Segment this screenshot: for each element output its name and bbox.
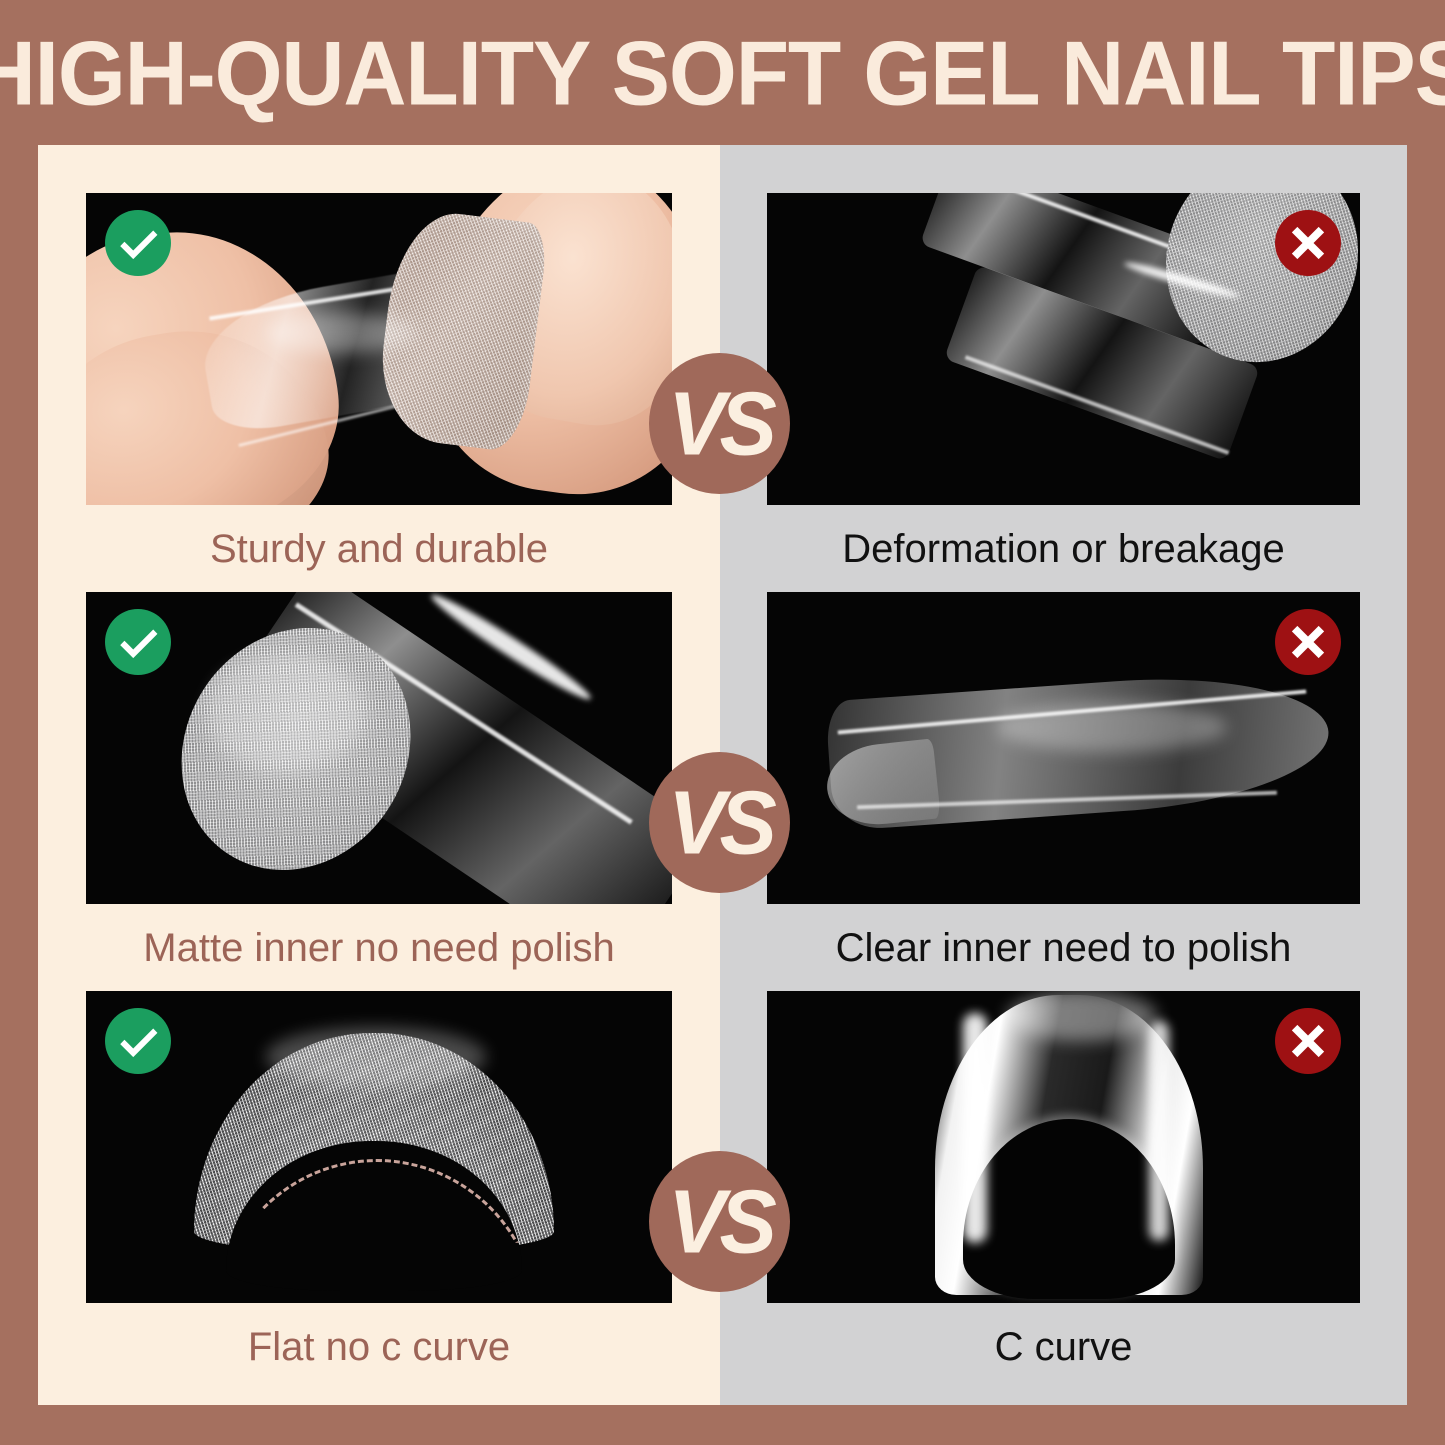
bad-cell-1: Deformation or breakage (720, 193, 1407, 571)
bad-cell-2: Clear inner need to polish (720, 592, 1407, 970)
bad-photo-3 (767, 991, 1360, 1303)
vs-label: VS (668, 1176, 771, 1266)
photo-art (767, 592, 1360, 904)
bad-photo-2 (767, 592, 1360, 904)
gloss-glow (1007, 991, 1157, 1041)
gloss-glow (206, 652, 366, 772)
good-caption-1: Sturdy and durable (38, 527, 720, 571)
good-column: Sturdy and durable Matte inner (38, 145, 720, 1405)
gloss-highlight (1149, 1021, 1169, 1241)
photo-art (86, 991, 672, 1303)
good-cell-1: Sturdy and durable (38, 193, 720, 571)
good-photo-3 (86, 991, 672, 1303)
vs-badge-row-1: VS (649, 353, 790, 494)
vs-label: VS (668, 378, 771, 468)
photo-art (86, 592, 672, 904)
bad-column: Deformation or breakage Clear (720, 145, 1407, 1405)
good-cell-3: Flat no c curve (38, 991, 720, 1369)
bad-caption-1: Deformation or breakage (720, 527, 1407, 571)
vs-label: VS (668, 777, 771, 867)
photo-art (767, 193, 1360, 505)
gloss-highlight (963, 1013, 987, 1243)
page-title: HIGH-QUALITY SOFT GEL NAIL TIPS (0, 27, 1445, 117)
cross-icon (1275, 1008, 1341, 1074)
bad-caption-2: Clear inner need to polish (720, 926, 1407, 970)
bad-caption-3: C curve (720, 1325, 1407, 1369)
comparison-board: Sturdy and durable Matte inner (38, 145, 1407, 1405)
vs-badge-row-2: VS (649, 752, 790, 893)
vs-badge-row-3: VS (649, 1151, 790, 1292)
good-caption-3: Flat no c curve (38, 1325, 720, 1369)
check-icon (105, 1008, 171, 1074)
photo-art (86, 193, 672, 505)
cross-icon (1275, 609, 1341, 675)
photo-art (767, 991, 1360, 1303)
poster-root: HIGH-QUALITY SOFT GEL NAIL TIPS (0, 0, 1445, 1445)
cross-icon (1275, 210, 1341, 276)
good-caption-2: Matte inner no need polish (38, 926, 720, 970)
check-icon (105, 210, 171, 276)
gloss-glow (266, 313, 416, 353)
good-cell-2: Matte inner no need polish (38, 592, 720, 970)
check-icon (105, 609, 171, 675)
bad-cell-3: C curve (720, 991, 1407, 1369)
good-photo-1 (86, 193, 672, 505)
gloss-glow (997, 702, 1227, 752)
bad-photo-1 (767, 193, 1360, 505)
gloss-glow (266, 1027, 486, 1087)
good-photo-2 (86, 592, 672, 904)
title-bar: HIGH-QUALITY SOFT GEL NAIL TIPS (0, 0, 1445, 145)
